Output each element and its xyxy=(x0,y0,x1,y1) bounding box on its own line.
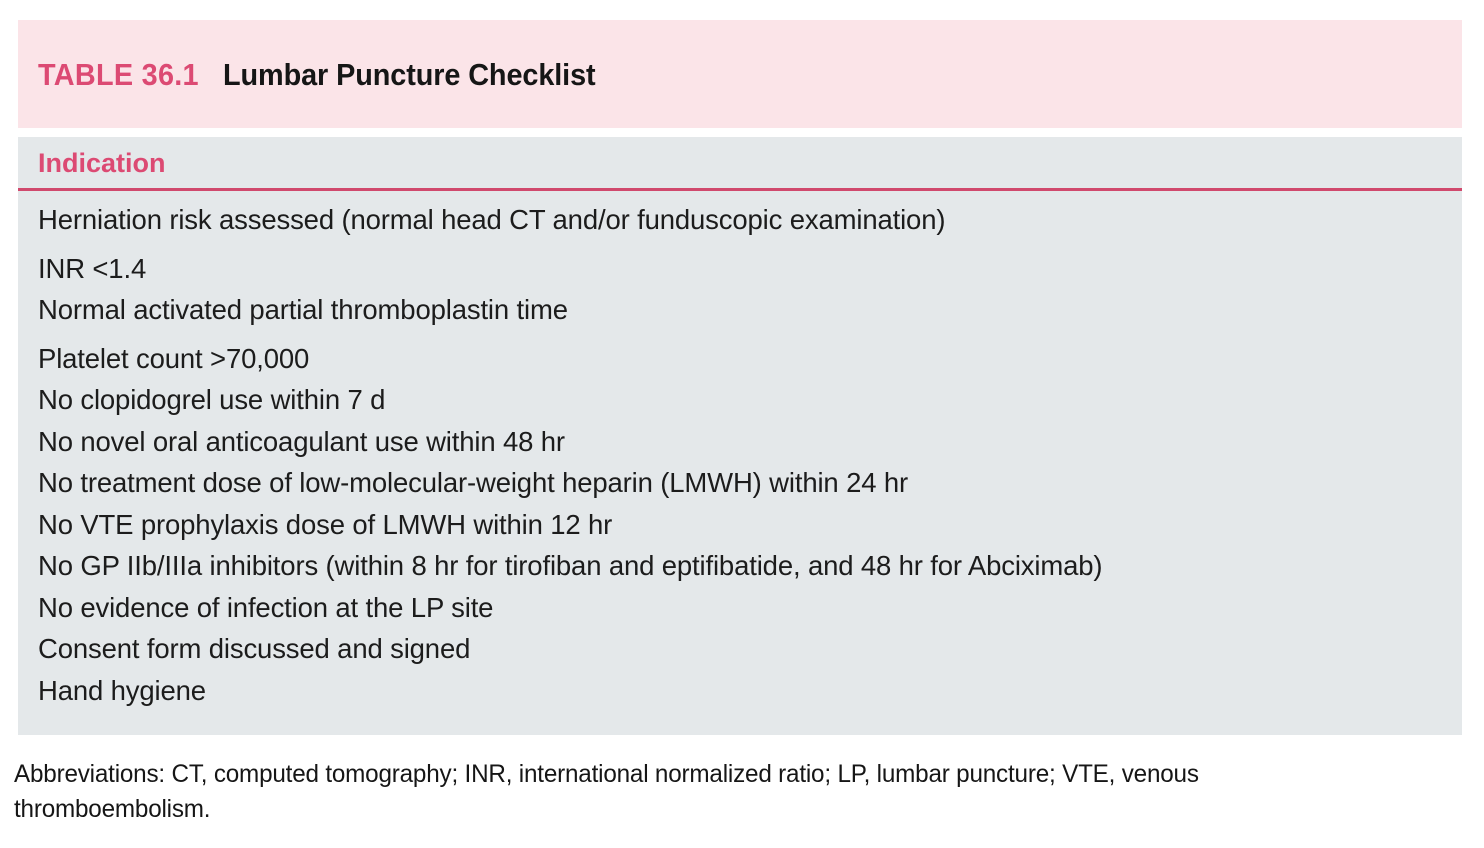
table-title-line: TABLE 36.1Lumbar Puncture Checklist xyxy=(18,59,624,90)
table-footnote: Abbreviations: CT, computed tomography; … xyxy=(14,757,1372,827)
table-row: Herniation risk assessed (normal head CT… xyxy=(38,199,1452,241)
table-figure-page: TABLE 36.1Lumbar Puncture Checklist Indi… xyxy=(0,0,1484,848)
table-row: No treatment dose of low-molecular-weigh… xyxy=(38,462,1452,504)
page-title: Lumbar Puncture Checklist xyxy=(223,59,596,90)
table-row: No VTE prophylaxis dose of LMWH within 1… xyxy=(38,504,1452,546)
table-title-band: TABLE 36.1Lumbar Puncture Checklist xyxy=(18,20,1462,128)
table-row-list: Herniation risk assessed (normal head CT… xyxy=(38,199,1452,711)
table-row: Hand hygiene xyxy=(38,670,1452,712)
column-header-indication: Indication xyxy=(38,149,166,179)
table-row: INR <1.4 xyxy=(38,248,1452,290)
table-row: Consent form discussed and signed xyxy=(38,628,1452,670)
table-row: Normal activated partial thromboplastin … xyxy=(38,289,1452,331)
table-number-label: TABLE 36.1 xyxy=(38,59,199,90)
header-divider-rule xyxy=(18,188,1462,191)
table-row: No novel oral anticoagulant use within 4… xyxy=(38,421,1452,463)
table-row: No evidence of infection at the LP site xyxy=(38,587,1452,629)
table-row: No clopidogrel use within 7 d xyxy=(38,379,1452,421)
table-row: No GP IIb/IIIa inhibitors (within 8 hr f… xyxy=(38,545,1452,587)
table-body-band: Indication Herniation risk assessed (nor… xyxy=(18,137,1462,735)
table-row: Platelet count >70,000 xyxy=(38,338,1452,380)
